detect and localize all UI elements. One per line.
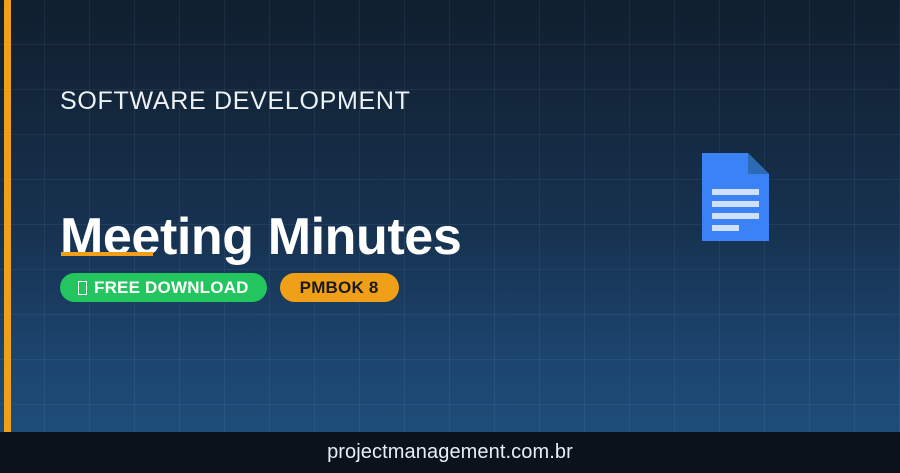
left-accent-bar [4, 0, 11, 432]
free-download-badge[interactable]: FREE DOWNLOAD [60, 273, 267, 302]
footer-bar: projectmanagement.com.br [0, 432, 900, 473]
title-divider [61, 252, 153, 256]
banner-content: SOFTWARE DEVELOPMENT Meeting Minutes FRE… [60, 0, 680, 432]
eyebrow-label: SOFTWARE DEVELOPMENT [60, 87, 411, 116]
document-icon [702, 153, 769, 241]
free-download-badge-label: FREE DOWNLOAD [94, 278, 249, 298]
footer-website-url: projectmanagement.com.br [327, 441, 573, 464]
promo-banner: SOFTWARE DEVELOPMENT Meeting Minutes FRE… [0, 0, 900, 473]
pmbok-version-badge-label: PMBOK 8 [300, 278, 379, 298]
pmbok-version-badge[interactable]: PMBOK 8 [280, 273, 399, 302]
badge-group: FREE DOWNLOAD PMBOK 8 [60, 273, 399, 302]
missing-glyph-box-icon [78, 281, 87, 295]
page-title: Meeting Minutes [60, 210, 461, 265]
